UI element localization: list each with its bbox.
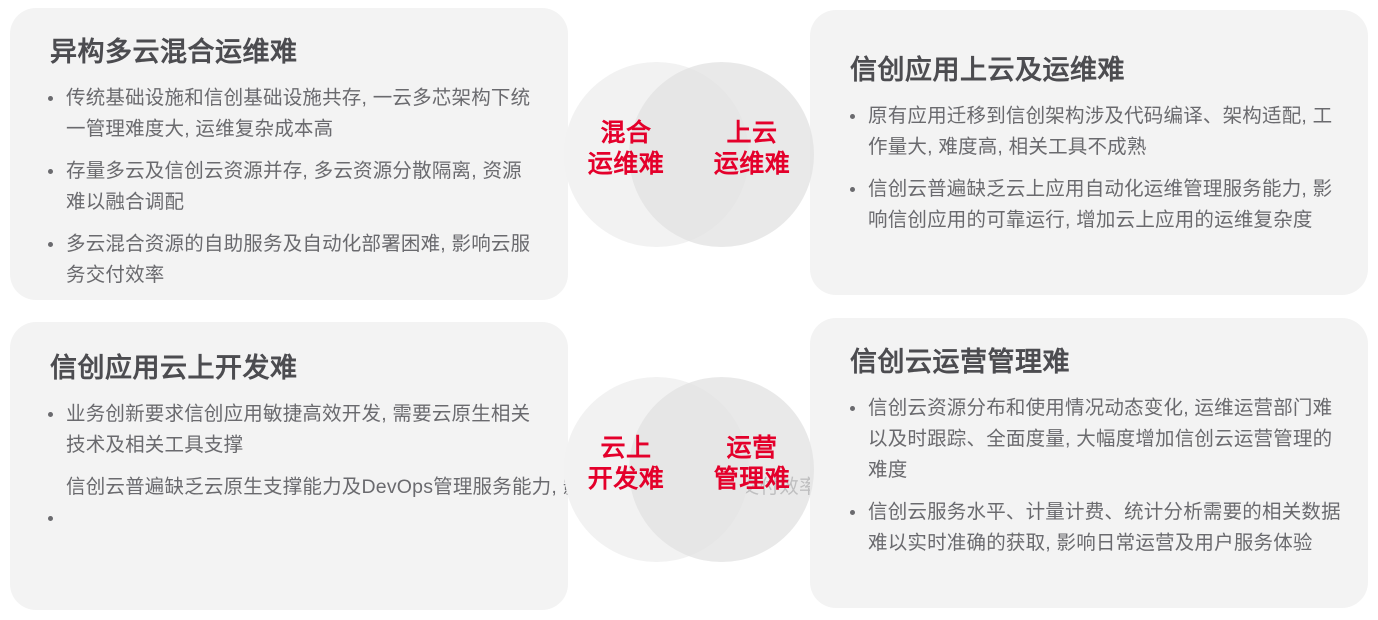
card-xinchuang-app-to-cloud-ops: 信创应用上云及运维难 原有应用迁移到信创架构涉及代码编译、架构适配, 工作量大,…	[810, 10, 1368, 295]
list-item: 存量多云及信创云资源并存, 多云资源分散隔离, 资源难以融合调配	[44, 156, 540, 218]
bullet-list: 原有应用迁移到信创架构涉及代码编译、架构适配, 工作量大, 难度高, 相关工具不…	[846, 101, 1344, 236]
list-item-text: 多云混合资源的自助服务及自动化部署困难, 影响云服务交付效率	[66, 233, 530, 286]
card-title: 信创云运营管理难	[850, 340, 1344, 379]
diagram-canvas: 异构多云混合运维难 传统基础设施和信创基础设施共存, 一云多芯架构下统一管理难度…	[0, 0, 1378, 620]
list-item: 传统基础设施和信创基础设施共存, 一云多芯架构下统一管理难度大, 运维复杂成本高	[44, 83, 540, 145]
bullet-dot-icon	[48, 412, 53, 417]
list-item-text: 业务创新要求信创应用敏捷高效开发, 需要云原生相关技术及相关工具支撑	[66, 403, 530, 456]
venn-label-line2: 管理难	[692, 464, 812, 495]
venn-label-left: 云上 开发难	[566, 433, 686, 495]
list-item-text: 信创云服务水平、计量计费、统计分析需要的相关数据难以实时准确的获取, 影响日常运…	[868, 501, 1341, 554]
venn-label-line2: 运维难	[566, 149, 686, 180]
list-item-text: 信创云资源分布和使用情况动态变化, 运维运营部门难以及时跟踪、全面度量, 大幅度…	[868, 397, 1332, 481]
list-item: 多云混合资源的自助服务及自动化部署困难, 影响云服务交付效率	[44, 229, 540, 291]
venn-diagram-bottom: 云上 开发难 运营 管理难	[564, 377, 814, 592]
list-item: 信创云资源分布和使用情况动态变化, 运维运营部门难以及时跟踪、全面度量, 大幅度…	[846, 393, 1344, 486]
list-item: 信创云普遍缺乏云上应用自动化运维管理服务能力, 影响信创应用的可靠运行, 增加云…	[846, 174, 1344, 236]
list-item: 信创云普遍缺乏云原生支撑能力及DevOps管理服务能力, 影响信创应用的开发交付…	[44, 472, 540, 503]
card-xinchuang-app-cloud-dev: 信创应用云上开发难 业务创新要求信创应用敏捷高效开发, 需要云原生相关技术及相关…	[10, 322, 568, 610]
venn-label-line1: 云上	[600, 434, 651, 462]
list-item-text: 存量多云及信创云资源并存, 多云资源分散隔离, 资源难以融合调配	[66, 160, 522, 213]
list-item: 原有应用迁移到信创架构涉及代码编译、架构适配, 工作量大, 难度高, 相关工具不…	[846, 101, 1344, 163]
bullet-dot-icon	[850, 510, 855, 515]
list-item-text: 传统基础设施和信创基础设施共存, 一云多芯架构下统一管理难度大, 运维复杂成本高	[66, 87, 530, 140]
bullet-list: 信创云资源分布和使用情况动态变化, 运维运营部门难以及时跟踪、全面度量, 大幅度…	[846, 393, 1344, 559]
venn-label-line1: 混合	[600, 119, 651, 147]
bullet-dot-icon	[850, 187, 855, 192]
venn-label-line2: 开发难	[566, 464, 686, 495]
venn-label-left: 混合 运维难	[566, 118, 686, 180]
bullet-list: 业务创新要求信创应用敏捷高效开发, 需要云原生相关技术及相关工具支撑 信创云普遍…	[44, 399, 540, 503]
venn-label-right: 上云 运维难	[692, 118, 812, 180]
venn-label-line2: 运维难	[692, 149, 812, 180]
list-item: 信创云服务水平、计量计费、统计分析需要的相关数据难以实时准确的获取, 影响日常运…	[846, 497, 1344, 559]
bullet-dot-icon	[850, 114, 855, 119]
card-xinchuang-cloud-operation-mgmt: 信创云运营管理难 信创云资源分布和使用情况动态变化, 运维运营部门难以及时跟踪、…	[810, 318, 1368, 608]
card-title: 信创应用云上开发难	[50, 346, 540, 385]
list-item: 业务创新要求信创应用敏捷高效开发, 需要云原生相关技术及相关工具支撑	[44, 399, 540, 461]
bullet-dot-icon	[48, 242, 53, 247]
venn-label-line1: 运营	[726, 434, 777, 462]
venn-label-right: 运营 管理难	[692, 433, 812, 495]
bullet-dot-icon	[48, 516, 53, 521]
list-item-text: 原有应用迁移到信创架构涉及代码编译、架构适配, 工作量大, 难度高, 相关工具不…	[868, 105, 1332, 158]
card-title: 信创应用上云及运维难	[850, 48, 1344, 87]
bullet-dot-icon	[48, 96, 53, 101]
bullet-dot-icon	[850, 406, 855, 411]
venn-diagram-top: 混合 运维难 上云 运维难	[564, 62, 814, 277]
venn-label-line1: 上云	[726, 119, 777, 147]
bullet-list: 传统基础设施和信创基础设施共存, 一云多芯架构下统一管理难度大, 运维复杂成本高…	[44, 83, 540, 291]
card-heterogeneous-multicloud-ops: 异构多云混合运维难 传统基础设施和信创基础设施共存, 一云多芯架构下统一管理难度…	[10, 8, 568, 300]
list-item-text: 信创云普遍缺乏云上应用自动化运维管理服务能力, 影响信创应用的可靠运行, 增加云…	[868, 178, 1332, 231]
bullet-dot-icon	[48, 169, 53, 174]
card-title: 异构多云混合运维难	[50, 30, 540, 69]
